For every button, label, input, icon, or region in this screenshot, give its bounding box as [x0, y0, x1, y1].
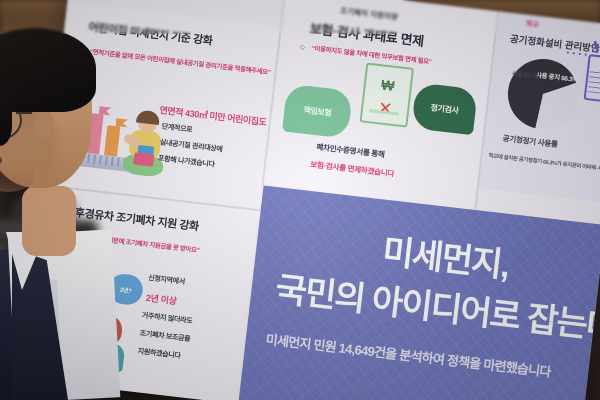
card-school-air-purifier: 학교 공기정화설비 관리방안 사용 중지 66.3% 사용 33.7% 공기청정… — [479, 11, 600, 203]
document-icon: ₩ ✕ — [360, 63, 415, 128]
air-purifier-usage-pie-chart — [504, 55, 582, 133]
diamond-bullet-icon: ◇ — [299, 43, 305, 52]
main-banner: 미세먼지, 국민의 아이디어로 잡는다 미세먼지 민원 14,649건을 분석하… — [238, 186, 600, 400]
card2-body-line-1: 폐차인수증명서를 통해 — [316, 141, 385, 160]
badge-liability-insurance: 책임보험 — [282, 84, 353, 139]
won-currency-icon: ₩ — [380, 76, 395, 93]
card3-title-small: 학교 — [525, 19, 539, 30]
card3-footnote: 학교에 설치된 공기청정기 66.3%가 유지관리 어려워 사용중지 — [488, 151, 600, 174]
speaker-figure — [0, 36, 180, 400]
badge-inspection-label: 정기검사 — [430, 102, 459, 116]
x-mark-icon: ✕ — [377, 98, 393, 120]
badge-periodic-inspection: 정기검사 — [411, 82, 478, 135]
card-scrappage-insurance: 조기폐차 지원차량 보험·검사 과태료 면제 ◇ “이용하지도 않을 차에 대한… — [264, 0, 498, 210]
hair — [0, 28, 96, 112]
screenshot-root: 어린이집 미세먼지 기준 강화 ◇ “면적기준을 없애 모든 어린이집에 실내공… — [0, 0, 600, 400]
card2-title-small: 조기폐차 지원차량 — [340, 5, 399, 23]
badge-liability-label: 책임보험 — [303, 104, 332, 118]
neck — [22, 186, 76, 256]
card3-chart-caption: 공기청정기 사용률 — [502, 133, 558, 150]
card2-body-line-2: 보험·검사를 면제하겠습니다 — [310, 159, 395, 180]
